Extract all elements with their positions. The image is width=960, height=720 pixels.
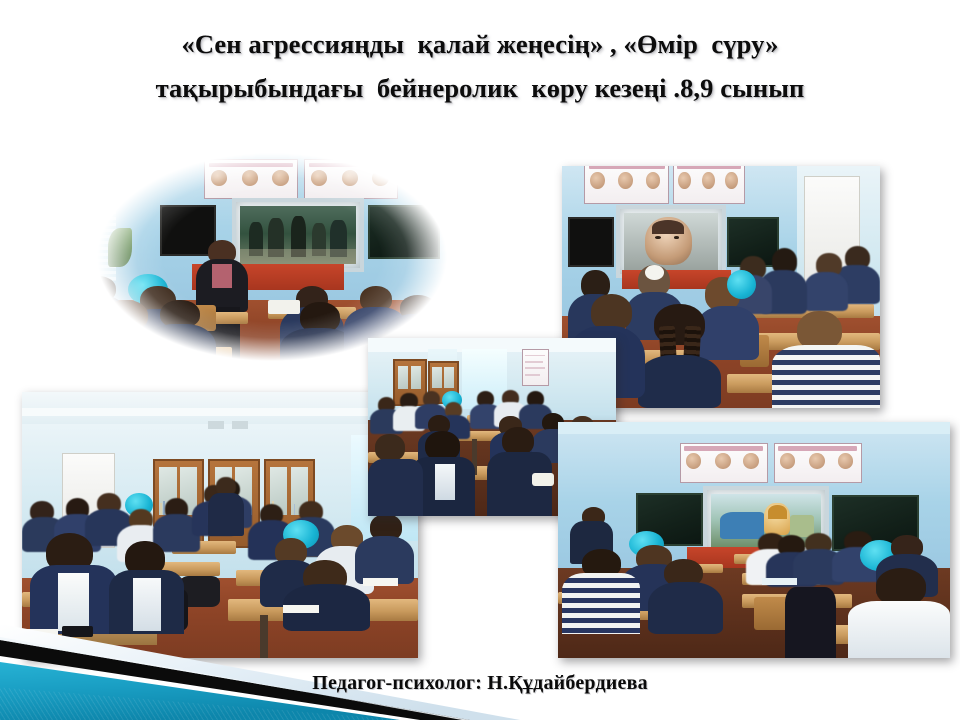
- presenter-caption: Педагог-психолог: Н.Құдайбердиева: [0, 672, 960, 695]
- photo-classroom-video[interactable]: [558, 422, 950, 658]
- title-line-1: «Сен агрессияңды қалай жеңесің» , «Өмір …: [0, 22, 960, 66]
- presenter-caption-text: Педагог-психолог: Н.Құдайбердиева: [312, 672, 648, 694]
- title-line-2: тақырыбындағы бейнеролик көру кезеңі .8,…: [0, 66, 960, 110]
- presentation-slide: «Сен агрессияңды қалай жеңесің» , «Өмір …: [0, 0, 960, 720]
- photo-students-writing[interactable]: [22, 392, 418, 658]
- slide-title: «Сен агрессияңды қалай жеңесің» , «Өмір …: [0, 22, 960, 110]
